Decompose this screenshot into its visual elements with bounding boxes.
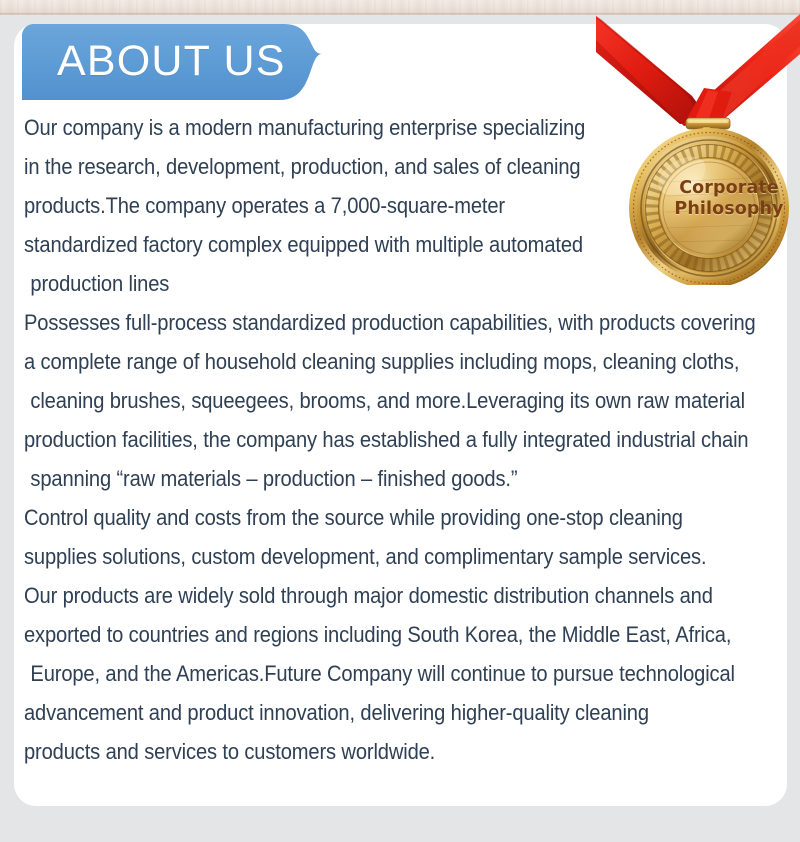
- paragraph: Control quality and costs from the sourc…: [24, 498, 776, 771]
- text-line: products and services to customers world…: [24, 732, 712, 771]
- text-line: Europe, and the Americas.Future Company …: [24, 654, 712, 693]
- text-line: production lines: [24, 264, 712, 303]
- medal-label: Corporate Philosophy: [668, 178, 790, 220]
- text-line: products.The company operates a 7,000-sq…: [24, 186, 712, 225]
- medal-label-line2: Philosophy: [668, 199, 790, 220]
- wood-texture-strip: [0, 0, 800, 15]
- text-line: cleaning brushes, squeegees, brooms, and…: [24, 381, 712, 420]
- text-line: exported to countries and regions includ…: [24, 615, 712, 654]
- text-line: advancement and product innovation, deli…: [24, 693, 712, 732]
- medal-label-line1: Corporate: [668, 178, 790, 199]
- text-line: Our company is a modern manufacturing en…: [24, 108, 712, 147]
- text-line: supplies solutions, custom development, …: [24, 537, 712, 576]
- text-line: production facilities, the company has e…: [24, 420, 712, 459]
- page-title: ABOUT US: [57, 36, 286, 86]
- text-line: Control quality and costs from the sourc…: [24, 498, 712, 537]
- text-line: Our products are widely sold through maj…: [24, 576, 712, 615]
- text-line: a complete range of household cleaning s…: [24, 342, 712, 381]
- text-line: standardized factory complex equipped wi…: [24, 225, 712, 264]
- paragraph: Possesses full-process standardized prod…: [24, 303, 776, 498]
- text-line: Possesses full-process standardized prod…: [24, 303, 712, 342]
- text-line: in the research, development, production…: [24, 147, 712, 186]
- text-line: spanning “raw materials – production – f…: [24, 459, 712, 498]
- about-body-text: Our company is a modern manufacturing en…: [24, 108, 776, 771]
- paragraph: Our company is a modern manufacturing en…: [24, 108, 776, 303]
